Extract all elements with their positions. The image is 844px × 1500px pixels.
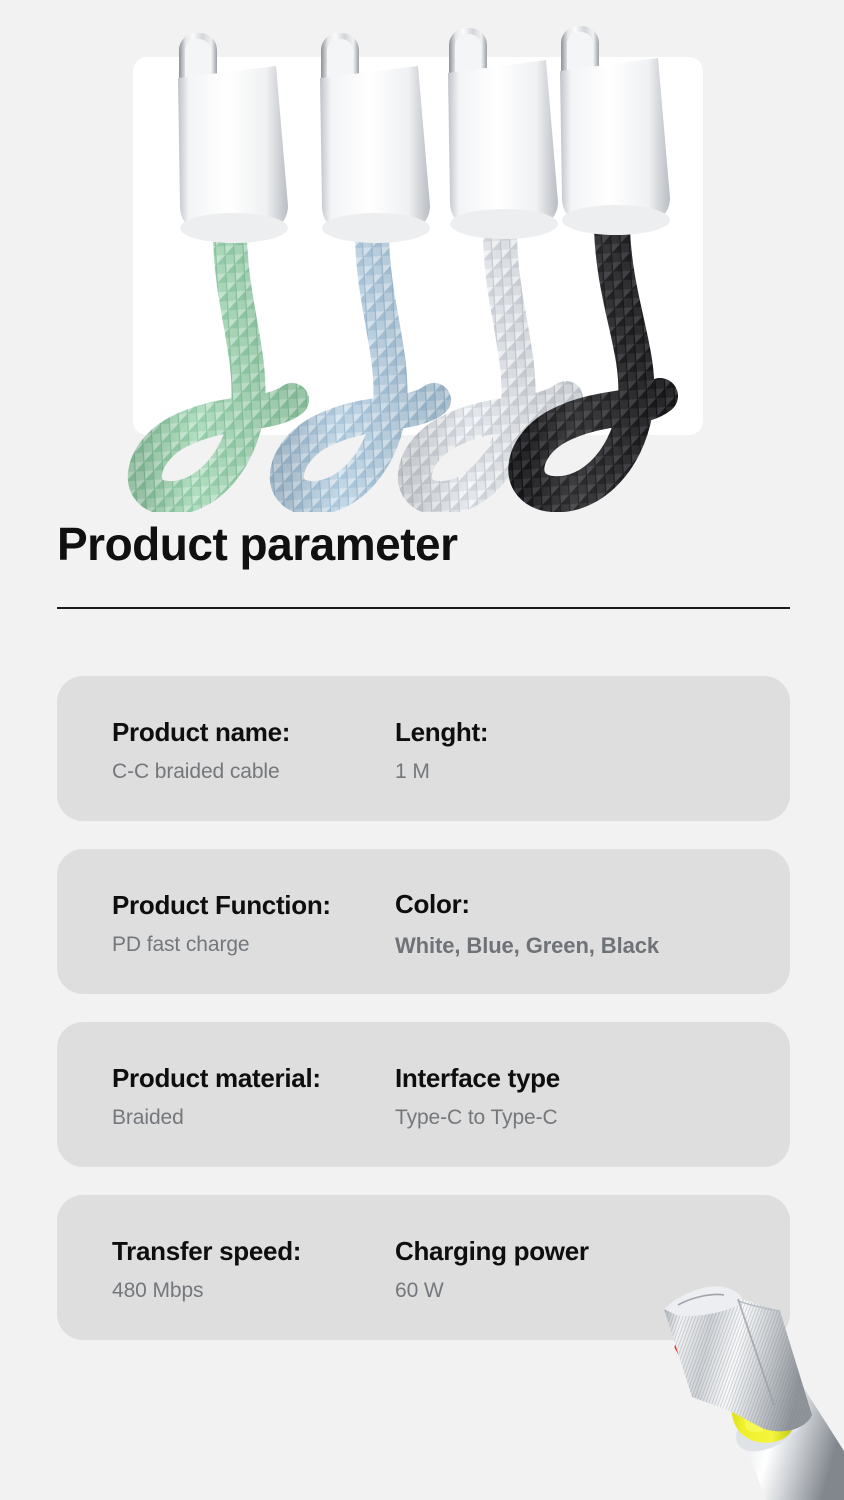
- parameter-cell: Interface type Type-C to Type-C: [393, 1058, 790, 1132]
- parameter-card: Transfer speed: 480 Mbps Charging power …: [57, 1195, 790, 1340]
- parameter-card-list: Product name: C-C braided cable Lenght: …: [57, 676, 790, 1368]
- connector-black: [560, 26, 670, 235]
- parameter-cell: Charging power 60 W: [393, 1231, 790, 1305]
- page-title: Product parameter: [57, 517, 458, 572]
- parameter-cell: Transfer speed: 480 Mbps: [57, 1231, 393, 1305]
- cable-black: [526, 228, 660, 494]
- parameter-cell: Product name: C-C braided cable: [57, 712, 393, 786]
- parameter-value: Braided: [112, 1105, 393, 1131]
- parameter-value: 480 Mbps: [112, 1278, 393, 1304]
- connector-green: [178, 33, 288, 243]
- parameter-card: Product name: C-C braided cable Lenght: …: [57, 676, 790, 821]
- parameter-label: Color:: [395, 888, 790, 921]
- parameter-label: Lenght:: [395, 716, 790, 749]
- parameter-card: Product Function: PD fast charge Color: …: [57, 849, 790, 994]
- parameter-value: White, Blue, Green, Black: [395, 932, 790, 960]
- parameter-value: PD fast charge: [112, 932, 393, 958]
- cable-green: [145, 232, 292, 498]
- title-divider: [57, 607, 790, 609]
- parameter-label: Interface type: [395, 1062, 790, 1095]
- parameter-cell: Product Function: PD fast charge: [57, 885, 393, 959]
- parameter-value: 60 W: [395, 1278, 790, 1304]
- parameter-label: Charging power: [395, 1235, 790, 1268]
- cables-illustration: [0, 0, 844, 512]
- parameter-cell: Color: White, Blue, Green, Black: [393, 884, 790, 959]
- parameter-label: Product material:: [112, 1062, 393, 1095]
- product-hero-image: [0, 0, 844, 512]
- parameter-label: Product Function:: [112, 889, 393, 922]
- parameter-label: Transfer speed:: [112, 1235, 393, 1268]
- parameter-cell: Product material: Braided: [57, 1058, 393, 1132]
- parameter-value: 1 M: [395, 759, 790, 785]
- cable-jacket: [726, 1383, 844, 1500]
- parameter-value: Type-C to Type-C: [395, 1105, 790, 1131]
- parameter-value: C-C braided cable: [112, 759, 393, 785]
- parameter-cell: Lenght: 1 M: [393, 712, 790, 786]
- parameter-card: Product material: Braided Interface type…: [57, 1022, 790, 1167]
- parameter-label: Product name:: [112, 716, 393, 749]
- connector-blue: [320, 33, 430, 243]
- connector-white: [448, 28, 558, 239]
